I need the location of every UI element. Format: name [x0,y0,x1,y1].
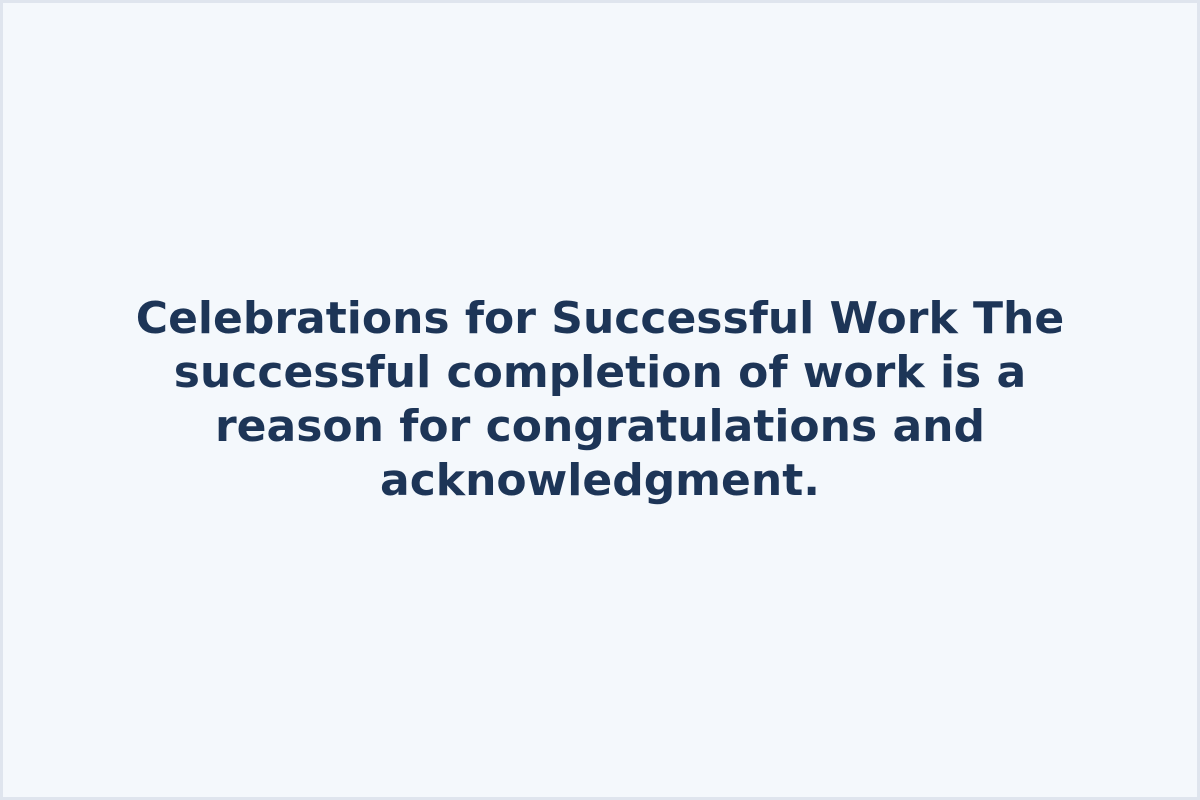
message-text: Celebrations for Successful Work The suc… [89,292,1111,508]
message-block: Celebrations for Successful Work The suc… [85,292,1115,508]
message-card: Celebrations for Successful Work The suc… [0,0,1200,800]
